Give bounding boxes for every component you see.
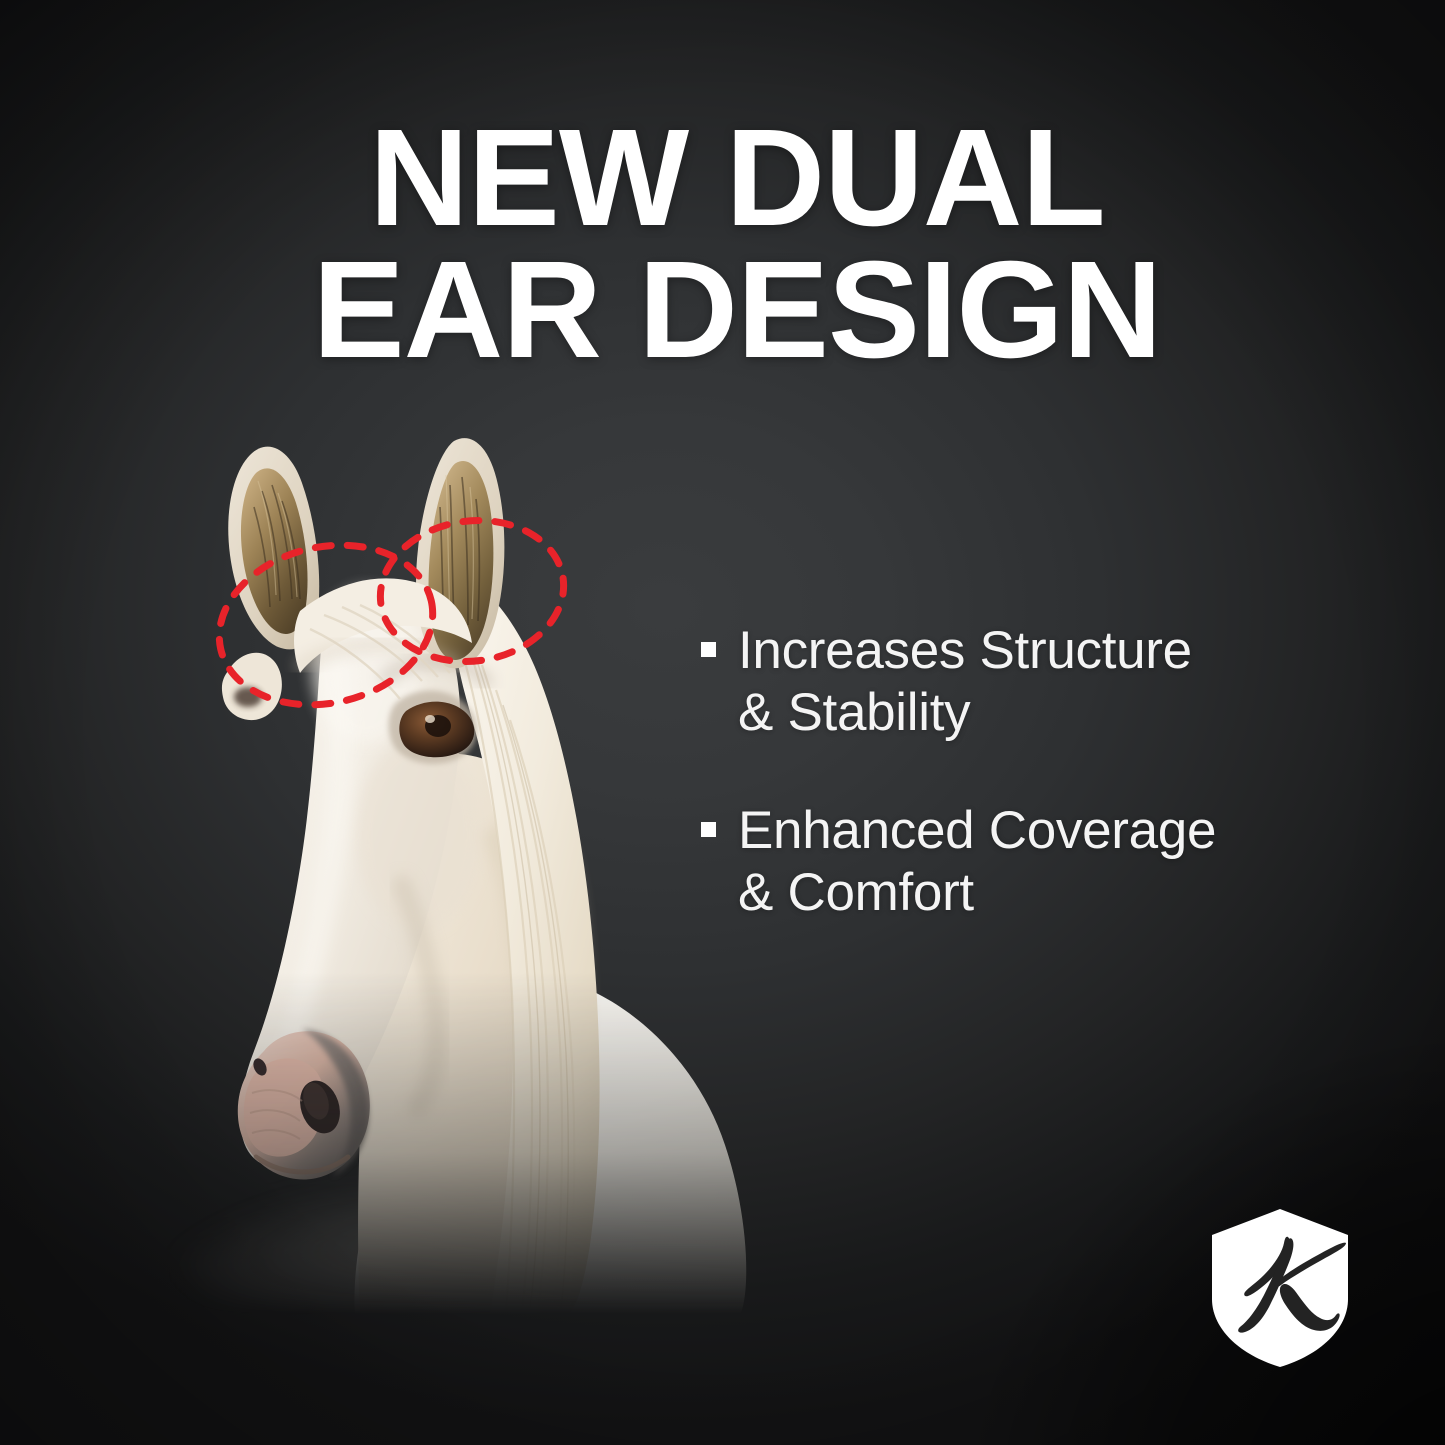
- page-title: NEW DUAL EAR DESIGN: [272, 112, 1202, 377]
- square-bullet-icon: [701, 642, 716, 657]
- kensington-shield-logo-icon: [1196, 1203, 1364, 1371]
- list-item: Increases Structure & Stability: [698, 620, 1358, 744]
- shield-shape: [1212, 1209, 1348, 1367]
- list-item-label: Enhanced Coverage & Comfort: [738, 801, 1216, 922]
- brand-logo: [1196, 1203, 1364, 1371]
- list-item: Enhanced Coverage & Comfort: [698, 800, 1358, 924]
- list-item-label: Increases Structure & Stability: [738, 621, 1192, 742]
- square-bullet-icon: [701, 822, 716, 837]
- promo-graphic-root: NEW DUAL EAR DESIGN: [0, 0, 1445, 1445]
- feature-list: Increases Structure & Stability Enhanced…: [698, 620, 1358, 924]
- horse-photo: [150, 415, 770, 1315]
